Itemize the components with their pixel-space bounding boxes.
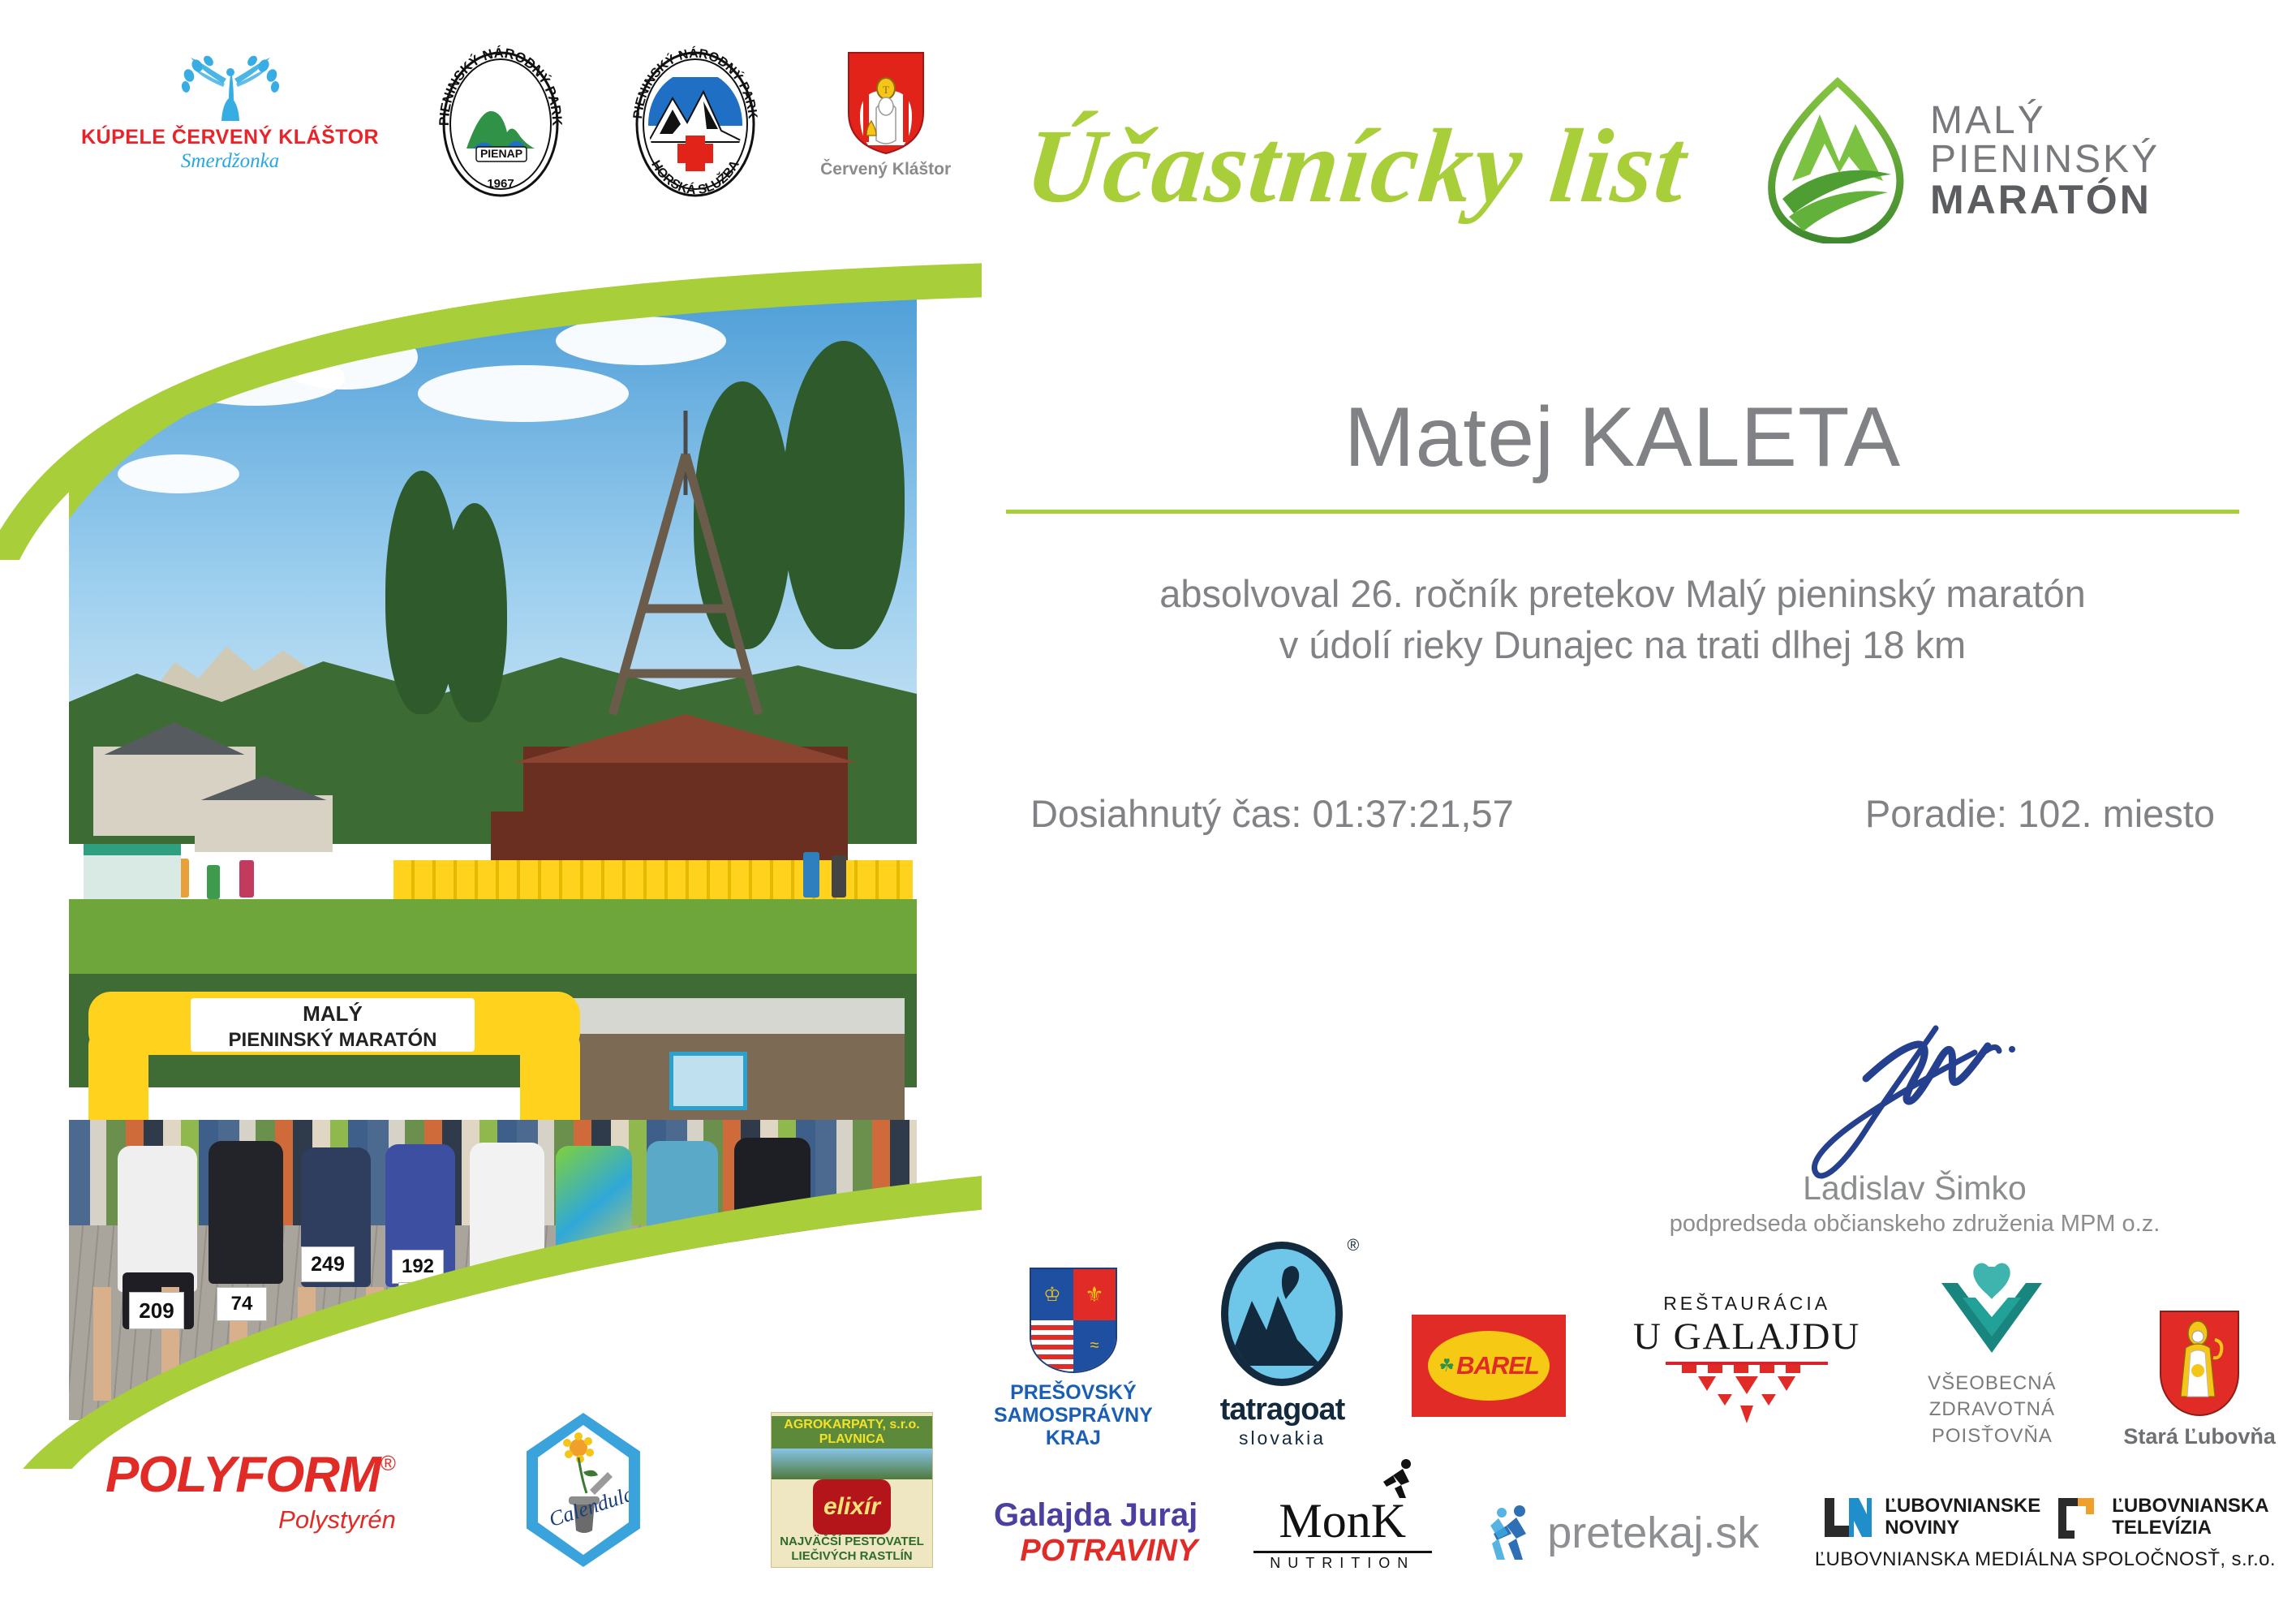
psk-cap-3: KRAJ [994,1427,1153,1449]
logo-obec-cerveny-klastor: T Červený Kláštor [820,45,951,179]
barel-oval: ☘ BAREL [1425,1328,1552,1403]
sponsor-restauracia-u-galajdu: REŠTAURÁCIA U GALAJDU [1633,1293,1860,1430]
mpm-brand-logo: MALÝ PIENINSKÝ MARATÓN [1765,77,2160,243]
page-title: Účastnícky list [1020,105,1692,227]
galajda-line-2: POTRAVINY [1020,1534,1197,1569]
sponsor-polyform: POLYFORM ® Polystyrén [105,1446,396,1535]
ug-top: REŠTAURÁCIA [1663,1293,1830,1315]
spectator [832,855,846,898]
ln-line-1: ĽUBOVNIANSKE [1885,1496,2040,1518]
stara-lubovna-caption: Stará Ľubovňa [2123,1424,2276,1449]
tatragoat-sub: slovakia [1239,1427,1326,1449]
cerveny-klastor-caption: Červený Kláštor [820,160,951,179]
barel-word: BAREL [1456,1351,1539,1380]
monk-sub: NUTRITION [1270,1555,1415,1572]
achieved-time: Dosiahnutý čas: 01:37:21,57 [1030,791,1514,836]
arch-sign-line1: MALÝ [191,1001,475,1027]
agrokarpaty-label: AGROKARPATY, s.r.o. PLAVNICA elixír NAJV… [771,1412,933,1568]
arch-sign: MALÝ PIENINSKÝ MARATÓN [191,998,475,1052]
svg-text:PIENAP: PIENAP [480,147,522,160]
clover-icon: ☘ [1438,1355,1455,1376]
sponsor-stara-lubovna: Stará Ľubovňa [2123,1311,2276,1449]
name-underline-rule [1006,510,2239,514]
sponsor-calendula: Calendula [527,1413,640,1567]
vzp-cap-3: POISŤOVŇA [1928,1423,2056,1449]
mountain-rescue-seal-icon: PIENINSKÝ NÁRODNÝ PARK HORSKÁ SLUŽBA [622,45,768,204]
lt-mark-icon [2053,1495,2099,1540]
brand-line-1: MALÝ [1930,101,2160,140]
tatragoat-mountain-icon [1221,1242,1343,1386]
running-man-icon [1382,1457,1419,1500]
lms-caption: ĽUBOVNIANSKA MEDIÁLNA SPOLOČNOSŤ, s.r.o. [1815,1548,2276,1571]
monk-word: MonK [1279,1493,1406,1549]
photo-collage: MALÝ PIENINSKÝ MARATÓN 209 74 249 192 [0,243,982,1469]
cerveny-klastor-coat-of-arms-icon: T [844,50,928,155]
polyform-sub: Polystyrén [278,1505,396,1535]
elixir-badge: elixír [813,1479,891,1535]
swoosh-upper-corner [0,243,982,560]
monk-rule [1253,1551,1432,1553]
pretekaj-word: pretekaj.sk [1547,1508,1759,1558]
participant-name: Matej KALETA [1006,390,2239,486]
sponsor-tatragoat: ® tatragoat slovakia [1220,1242,1345,1449]
ln-mark-icon [1821,1495,1872,1540]
svg-text:T: T [883,84,889,96]
signatory-name: Ladislav Šimko [1639,1169,2191,1208]
tatragoat-word: tatragoat [1220,1393,1345,1427]
sponsor-lubovnianska-medialna: ĽUBOVNIANSKE NOVINY ĽUBOVNIANSKA TELEVÍZ… [1815,1495,2276,1571]
sponsor-galajda-juraj-potraviny: Galajda Juraj POTRAVINY [994,1497,1197,1569]
leaf-mountain-icon [1765,77,1911,243]
psk-coat-of-arms-icon: ♔ ⚜ ≈ [1030,1268,1117,1373]
brand-line-2: PIENINSKÝ [1930,140,2160,179]
header-logo-strip: KÚPELE ČERVENÝ KLÁŠTOR Smerdžonka PIENIN… [81,45,941,207]
sponsor-row-secondary: Galajda Juraj POTRAVINY MonK NUTRITION [994,1493,2276,1572]
ug-main: U GALAJDU [1633,1315,1860,1358]
vzp-cap-1: VŠEOBECNÁ [1928,1371,2056,1397]
sponsor-vseobecna-zdravotna-poistovna: VŠEOBECNÁ ZDRAVOTNÁ POISŤOVŇA [1928,1262,2056,1449]
registered-mark: ® [1348,1237,1360,1255]
results-row: Dosiahnutý čas: 01:37:21,57 Poradie: 102… [1006,791,2239,836]
folk-ornament-icon [1666,1365,1828,1430]
building [195,795,333,852]
registered-mark: ® [381,1451,396,1476]
sponsor-presovsky-samospravny-kraj: ♔ ⚜ ≈ PREŠOVSKÝ SAMOSPRÁVNY KRAJ [994,1268,1153,1449]
lt-line-1: ĽUBOVNIANSKA [2112,1496,2268,1518]
signatory-role: podpredseda občianskeho združenia MPM o.… [1639,1211,2191,1238]
calendula-hex-icon: Calendula [527,1413,640,1567]
spectator [239,860,254,898]
agrokarpaty-top: AGROKARPATY, s.r.o. PLAVNICA [772,1416,932,1449]
vzp-v-icon [1935,1262,2049,1364]
spectator [207,865,220,899]
sponsor-row-left: POLYFORM ® Polystyrén Cale [105,1412,933,1568]
arch-sign-line2: PIENINSKÝ MARATÓN [191,1029,475,1052]
signature-block: Ladislav Šimko podpredseda občianskeho z… [1639,1010,2191,1238]
label-scenery [772,1449,932,1479]
building-roof [523,998,905,1034]
pienap-seal-icon: PIENINSKÝ NÁRODNÝ PARK PIENAP 1967 [431,45,570,204]
sponsor-pretekaj-sk: pretekaj.sk [1487,1503,1759,1563]
description-line-1: absolvoval 26. ročník pretekov Malý pien… [1006,568,2239,619]
sponsor-agrokarpaty-elixir: AGROKARPATY, s.r.o. PLAVNICA elixír NAJV… [771,1412,933,1568]
sponsor-row-primary: ♔ ⚜ ≈ PREŠOVSKÝ SAMOSPRÁVNY KRAJ ® tatra… [994,1242,2276,1449]
water-angel-icon [170,51,291,126]
logo-kupele-cerveny-klastor: KÚPELE ČERVENÝ KLÁŠTOR Smerdžonka [81,45,379,173]
stara-lubovna-coat-of-arms-icon [2160,1311,2239,1416]
agrokarpaty-bottom-1: NAJVÄČŠÍ PESTOVATEL [780,1535,924,1549]
logo-pieninsky-narodny-park: PIENINSKÝ NÁRODNÝ PARK PIENAP 1967 [431,45,570,204]
sponsor-monk-nutrition: MonK NUTRITION [1253,1493,1432,1572]
kupele-title: KÚPELE ČERVENÝ KLÁŠTOR [81,126,379,149]
psk-cap-2: SAMOSPRÁVNY [994,1404,1153,1427]
brand-line-3: MARATÓN [1930,179,2160,220]
svg-text:1967: 1967 [487,177,514,191]
spectator [803,852,819,898]
polyform-word: POLYFORM [105,1446,381,1504]
barel-logo-box: ☘ BAREL [1412,1315,1566,1417]
ln-line-2: NOVINY [1885,1518,2040,1539]
sponsor-barel: ☘ BAREL [1412,1315,1566,1417]
lt-line-2: TELEVÍZIA [2112,1518,2268,1539]
galajda-line-1: Galajda Juraj [994,1497,1197,1534]
two-runners-icon [1487,1503,1541,1563]
logo-horska-sluzba: PIENINSKÝ NÁRODNÝ PARK HORSKÁ SLUŽBA [622,45,768,204]
kupele-subtitle: Smerdžonka [181,150,279,173]
vzp-cap-2: ZDRAVOTNÁ [1928,1397,2056,1423]
placement: Poradie: 102. miesto [1865,791,2215,836]
psk-cap-1: PREŠOVSKÝ [994,1381,1153,1404]
description-line-2: v údolí rieky Dunajec na trati dlhej 18 … [1006,619,2239,670]
certificate-description: absolvoval 26. ročník pretekov Malý pien… [1006,568,2239,671]
agrokarpaty-bottom-2: LIEČIVÝCH RASTLÍN [780,1549,924,1564]
